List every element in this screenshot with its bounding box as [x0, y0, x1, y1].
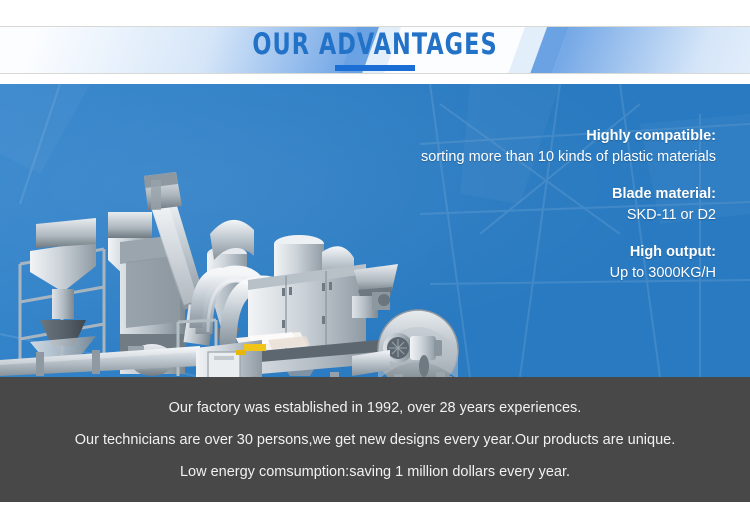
page-title: OUR ADVANTAGES — [53, 28, 698, 60]
feature-item: High output: Up to 3000KG/H — [316, 242, 716, 284]
feature-title: Highly compatible: — [316, 126, 716, 147]
hero-panel: Highly compatible: sorting more than 10 … — [0, 84, 750, 377]
footer-panel: Our factory was established in 1992, ove… — [0, 377, 750, 502]
feature-description: Up to 3000KG/H — [316, 263, 716, 284]
feature-title: Blade material: — [316, 184, 716, 205]
footer-line: Our factory was established in 1992, ove… — [169, 399, 582, 417]
feature-title: High output: — [316, 242, 716, 263]
section-header: OUR ADVANTAGES — [0, 0, 750, 84]
feature-list: Highly compatible: sorting more than 10 … — [316, 126, 716, 284]
feature-item: Blade material: SKD-11 or D2 — [316, 184, 716, 226]
footer-line: Low energy comsumption:saving 1 million … — [180, 463, 570, 481]
bottom-spacer — [0, 502, 750, 524]
feature-description: SKD-11 or D2 — [316, 205, 716, 226]
feature-description: sorting more than 10 kinds of plastic ma… — [316, 147, 716, 168]
advantages-banner: OUR ADVANTAGES — [0, 0, 750, 524]
title-underline — [335, 65, 415, 71]
footer-line: Our technicians are over 30 persons,we g… — [75, 431, 675, 449]
feature-item: Highly compatible: sorting more than 10 … — [316, 126, 716, 168]
